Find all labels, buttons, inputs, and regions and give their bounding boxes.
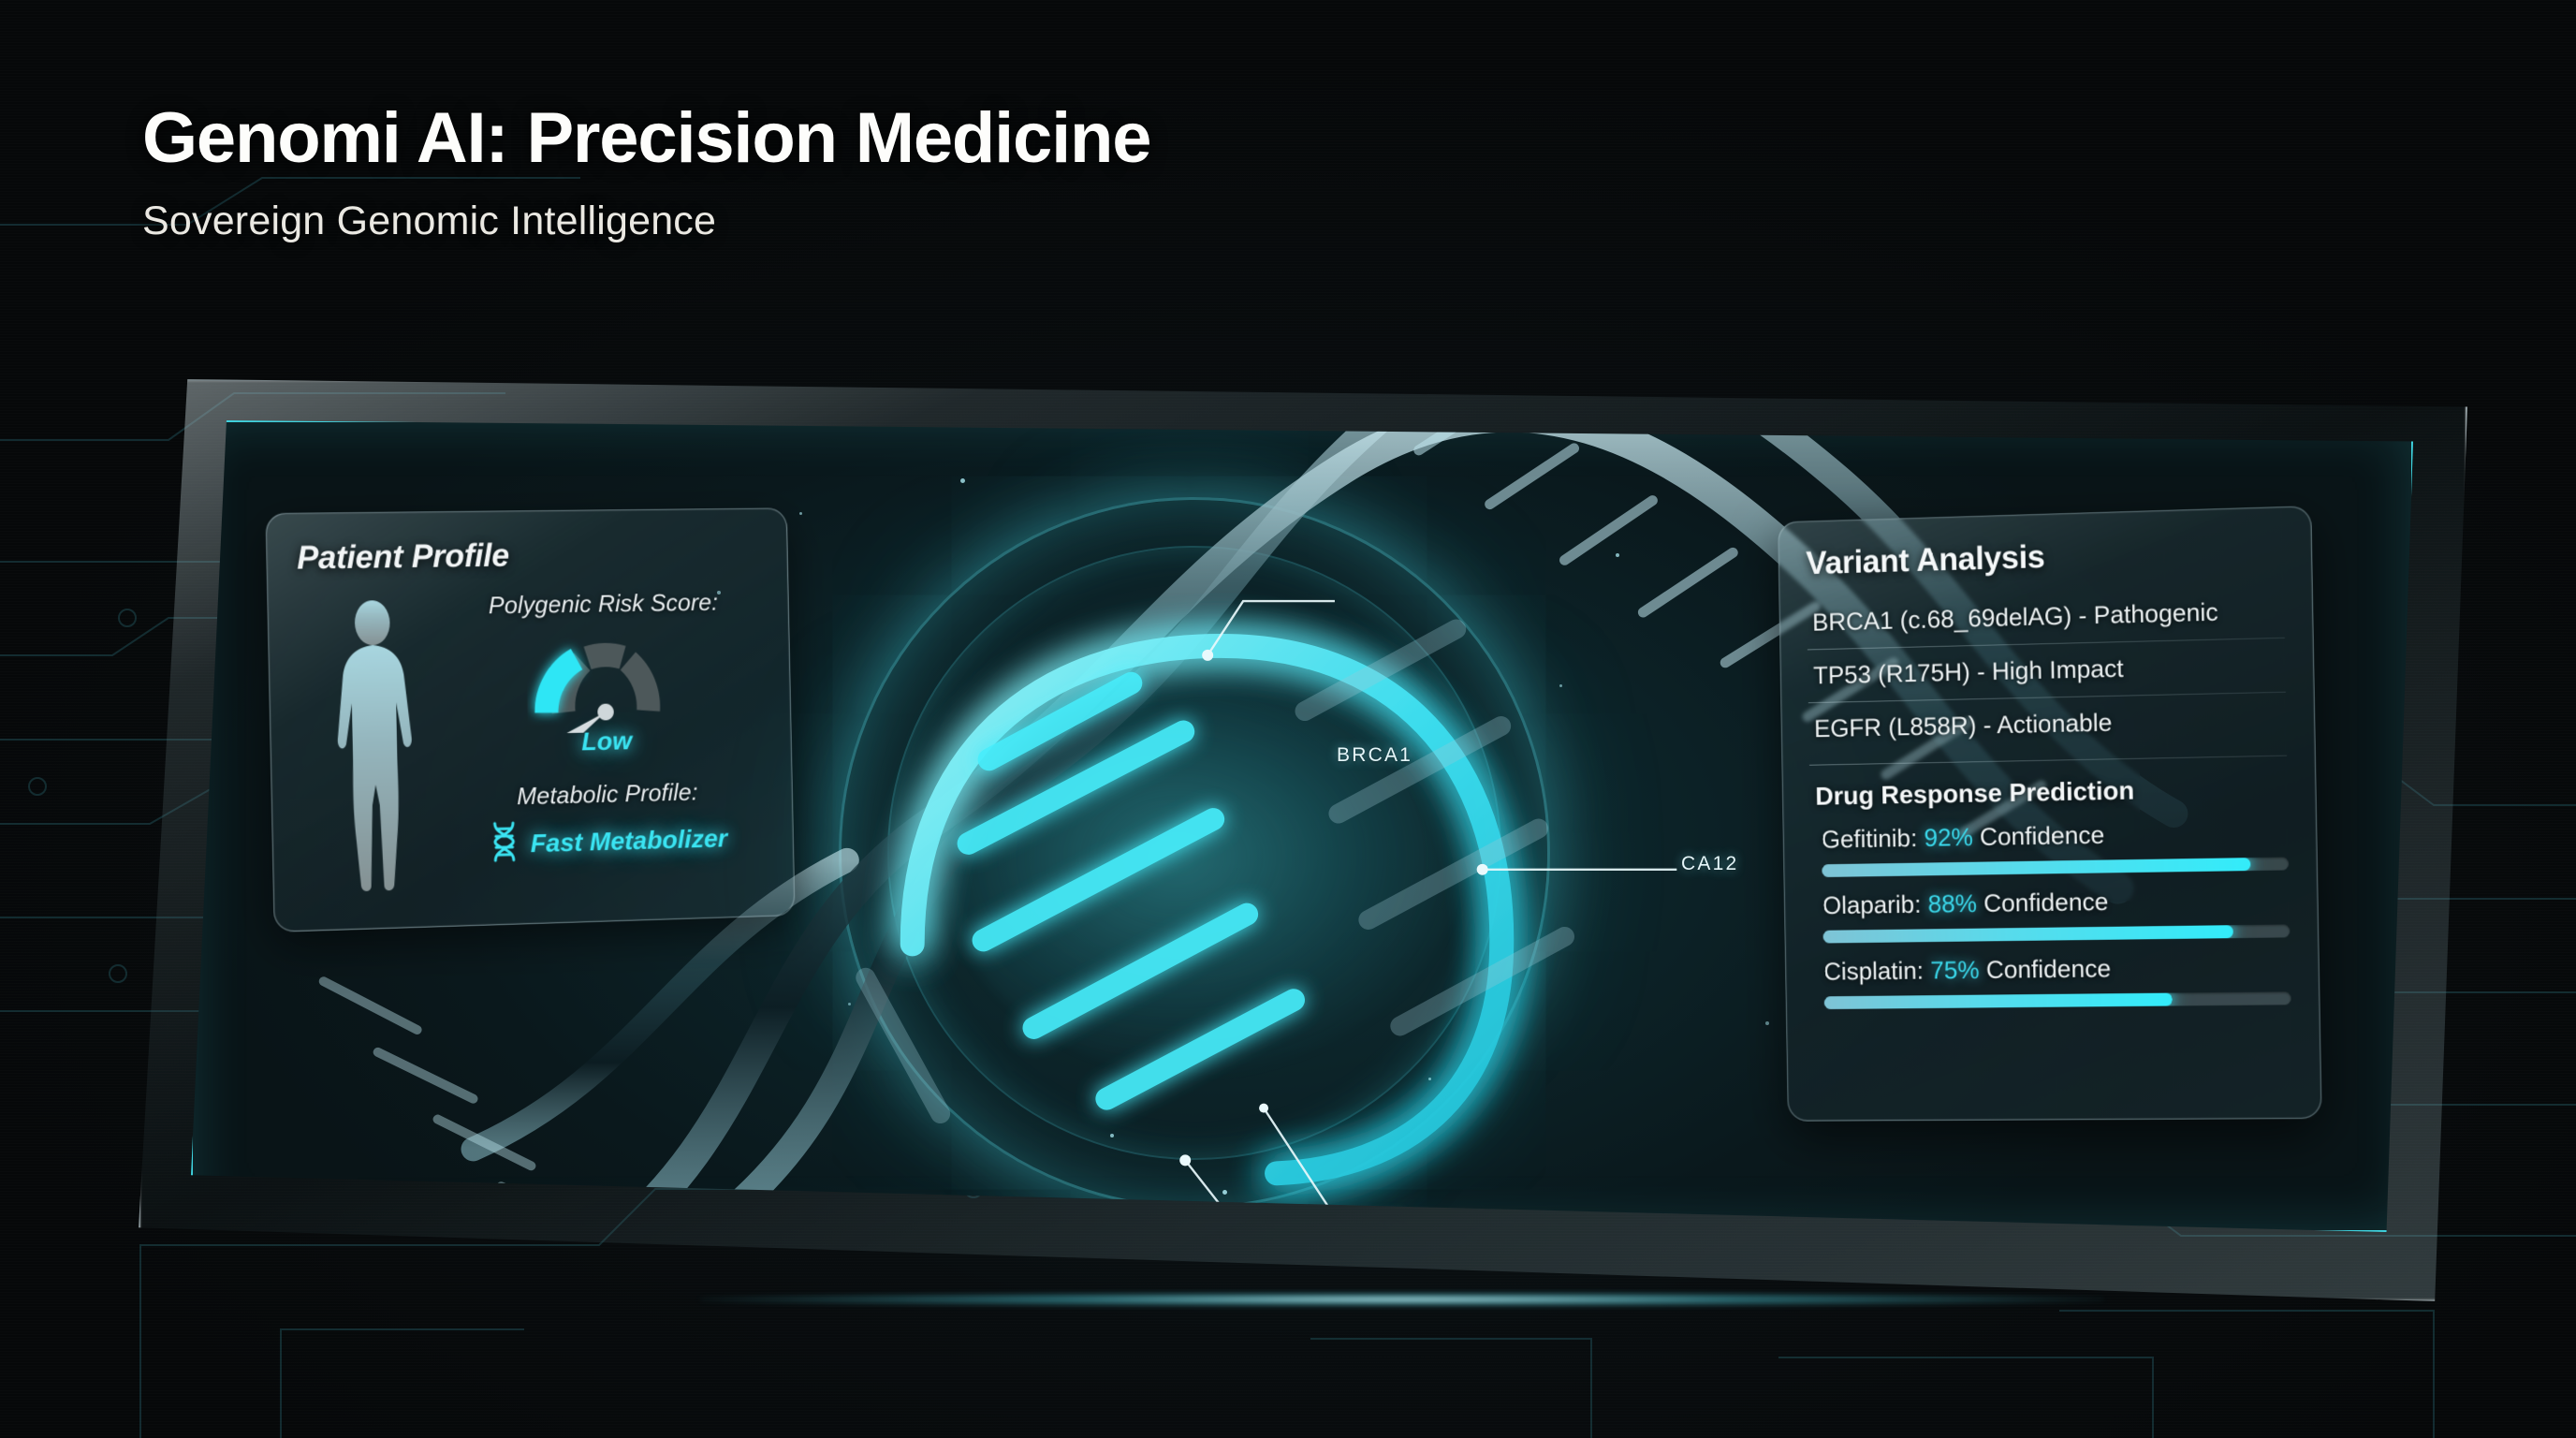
drug-confidence-percent: 92% [1924, 823, 1973, 851]
device-base-glow [700, 1292, 2104, 1307]
patient-profile-card[interactable]: Patient Profile [265, 507, 795, 932]
human-body-silhouette-icon [298, 592, 451, 899]
drug-name: Olaparib [1822, 890, 1915, 919]
dna-label-ca12: CA12 [1681, 853, 1738, 875]
drug-response-text: Gefitinib: 92% Confidence [1822, 818, 2289, 855]
drug-response-text: Olaparib: 88% Confidence [1822, 885, 2290, 920]
variant-list: BRCA1 (c.68_69delAG) - Pathogenic TP53 (… [1807, 584, 2287, 766]
drug-confidence-percent: 75% [1930, 956, 1980, 984]
drug-response-item[interactable]: Olaparib: 88% Confidence [1811, 885, 2290, 943]
drug-confidence-bar-fill [1823, 925, 2233, 943]
drug-confidence-bar-track [1824, 991, 2291, 1009]
drug-confidence-bar-fill [1824, 993, 2173, 1009]
dna-label-brca1: BRCA1 [1337, 744, 1412, 767]
infographic-stage: Genomi AI: Precision Medicine Sovereign … [0, 0, 2576, 1438]
headline-block: Genomi AI: Precision Medicine Sovereign … [142, 103, 1150, 244]
dna-helix-icon [488, 820, 520, 868]
drug-response-item[interactable]: Gefitinib: 92% Confidence [1810, 818, 2289, 878]
drug-confidence-bar-fill [1822, 858, 2250, 877]
page-title: Genomi AI: Precision Medicine [142, 103, 1150, 174]
sparkle-particle [1765, 1021, 1769, 1025]
patient-profile-body: Polygenic Risk Score: [298, 587, 766, 898]
sparkle-particle [1559, 684, 1562, 687]
drug-confidence-suffix: Confidence [1983, 888, 2109, 917]
drug-name: Gefitinib [1822, 825, 1911, 854]
patient-metrics: Polygenic Risk Score: [446, 587, 766, 894]
drug-confidence-suffix: Confidence [1980, 821, 2105, 851]
drug-confidence-bar-track [1822, 857, 2289, 877]
metabolic-profile-label: Metabolic Profile: [517, 778, 698, 811]
variant-analysis-panel[interactable]: Variant Analysis BRCA1 (c.68_69delAG) - … [1778, 506, 2322, 1122]
sparkle-particle [1110, 1134, 1114, 1137]
sparkle-particle [799, 512, 802, 515]
patient-profile-title: Patient Profile [297, 535, 759, 578]
sparkle-particle [1616, 553, 1619, 557]
divider [1809, 756, 2287, 766]
drug-response-list: Gefitinib: 92% Confidence Olaparib: 88% … [1810, 818, 2291, 1010]
sparkle-particle [848, 1003, 851, 1005]
sparkle-particle [960, 478, 965, 483]
metabolic-profile-value: Fast Metabolizer [530, 823, 727, 858]
drug-name: Cisplatin [1823, 957, 1917, 986]
page-subtitle: Sovereign Genomic Intelligence [142, 198, 1150, 244]
sparkle-particle [1222, 1190, 1227, 1195]
metabolic-profile-row: Fast Metabolizer [488, 814, 727, 868]
drug-response-text: Cisplatin: 75% Confidence [1823, 952, 2291, 986]
drug-response-item[interactable]: Cisplatin: 75% Confidence [1813, 952, 2291, 1009]
drug-confidence-percent: 88% [1927, 889, 1977, 917]
variant-row[interactable]: EGFR (L858R) - Actionable [1808, 693, 2287, 756]
variant-analysis-title: Variant Analysis [1806, 532, 2284, 582]
drug-response-prediction-title: Drug Response Prediction [1809, 773, 2288, 812]
drug-confidence-bar-track [1823, 924, 2291, 943]
polygenic-risk-label: Polygenic Risk Score: [488, 588, 718, 620]
drug-confidence-suffix: Confidence [1986, 955, 2112, 984]
sparkle-particle [1428, 1078, 1431, 1080]
polygenic-risk-gauge [507, 623, 703, 735]
